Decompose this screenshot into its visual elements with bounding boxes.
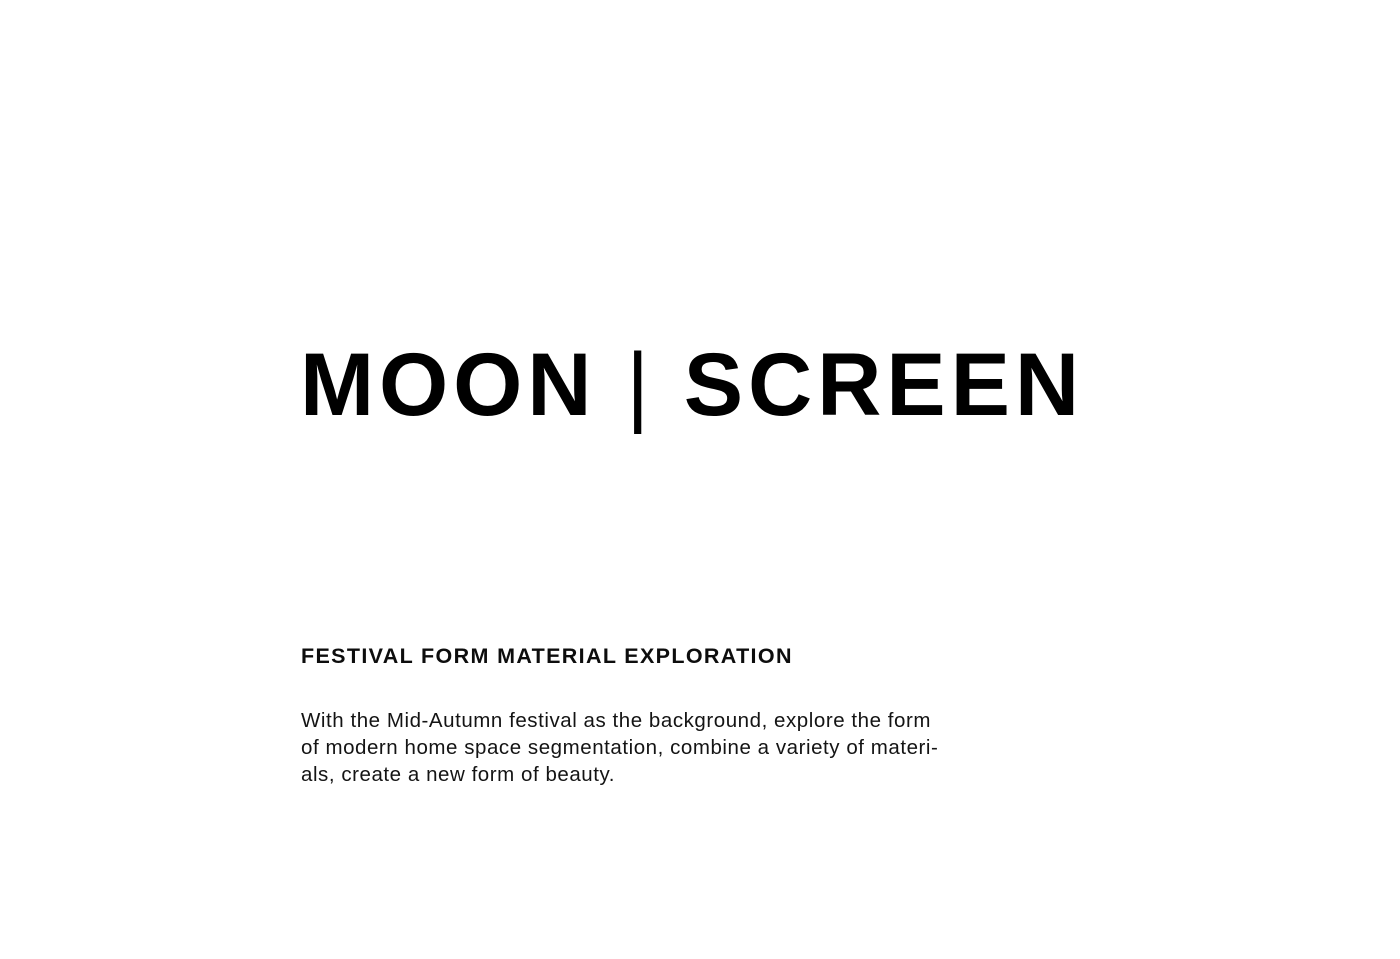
body-line: With the Mid-Autumn festival as the back… [301, 707, 1101, 734]
page-title: MOON | SCREEN [300, 340, 1300, 429]
body-line: als, create a new form of beauty. [301, 761, 1101, 788]
subtitle-block: FESTIVAL FORM MATERIAL EXPLORATION [301, 645, 1301, 669]
title-second-word: SCREEN [684, 334, 1084, 434]
body-line: of modern home space segmentation, combi… [301, 734, 1101, 761]
title-slide: MOON | SCREEN FESTIVAL FORM MATERIAL EXP… [0, 0, 1400, 959]
title-block: MOON | SCREEN [300, 340, 1300, 429]
body-block: With the Mid-Autumn festival as the back… [301, 707, 1101, 788]
page-subtitle: FESTIVAL FORM MATERIAL EXPLORATION [301, 645, 1301, 669]
title-separator-bar: | [626, 334, 654, 434]
title-first-word: MOON [300, 334, 596, 434]
body-paragraph: With the Mid-Autumn festival as the back… [301, 707, 1101, 788]
